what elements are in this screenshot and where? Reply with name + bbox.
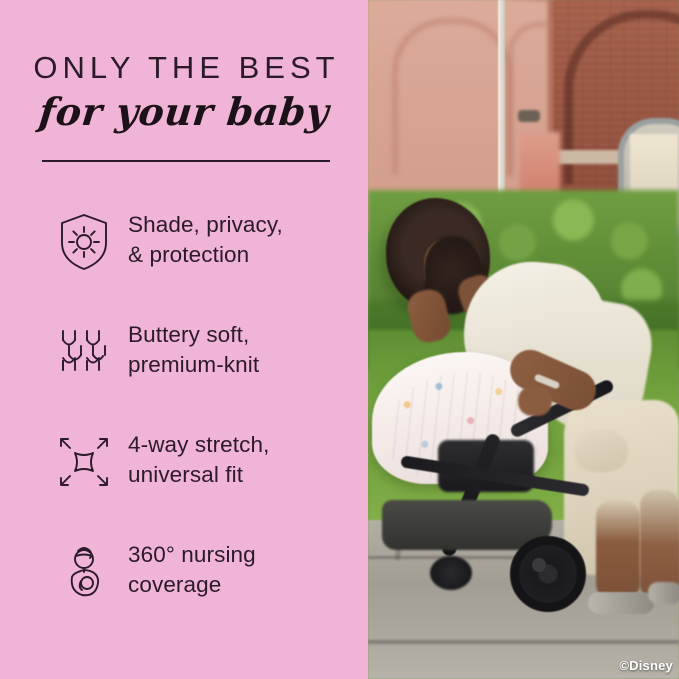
feature-item-buttery-soft: Buttery soft, premium-knit [0,318,368,428]
sidewalk-seam-lower [368,640,679,644]
wall-lamp [518,110,540,122]
pants-tie-knot [574,430,628,472]
feature-line-1: 4-way stretch, [128,432,269,457]
feature-item-four-way-stretch: 4-way stretch, universal fit [0,428,368,538]
utility-pole [498,0,505,215]
headline-divider [42,160,330,162]
woman-hand [518,386,552,416]
feature-line-2: premium-knit [128,350,259,380]
feature-label: Buttery soft, premium-knit [128,318,259,380]
feature-label: 4-way stretch, universal fit [128,428,269,490]
headline-primary: ONLY THE BEST [0,52,368,85]
feature-item-shade-privacy: Shade, privacy, & protection [0,208,368,318]
stroller-wheel-front [510,536,586,612]
headline-script: for your baby [0,92,370,132]
nursing-mother-icon [52,540,116,604]
stroller-wheel-rear [430,556,472,590]
headline-block: ONLY THE BEST for your baby [0,52,368,131]
woman-sandal-far [648,582,679,604]
feature-line-2: coverage [128,570,256,600]
product-feature-ad: ONLY THE BEST for your baby Shade, priva… [0,0,679,679]
feature-list: Shade, privacy, & protection [0,208,368,648]
feature-line-1: 360° nursing [128,542,256,567]
feature-line-1: Buttery soft, [128,322,249,347]
feature-line-2: & protection [128,240,283,270]
features-panel: ONLY THE BEST for your baby Shade, priva… [0,0,368,679]
woman-leg-near [596,500,640,600]
copyright-notice: ©Disney [619,658,673,673]
feature-item-nursing-coverage: 360° nursing coverage [0,538,368,648]
woman-sandal-near [588,592,654,614]
feature-label: 360° nursing coverage [128,538,256,600]
arch-detail-left [392,18,512,174]
feature-line-1: Shade, privacy, [128,212,283,237]
lifestyle-photo: ©Disney [368,0,679,679]
four-way-stretch-icon [52,430,116,494]
feature-label: Shade, privacy, & protection [128,208,283,270]
knit-stitch-icon [52,320,116,384]
stroller-wheel-hub [532,558,546,572]
sun-shield-icon [52,210,116,274]
feature-line-2: universal fit [128,460,269,490]
